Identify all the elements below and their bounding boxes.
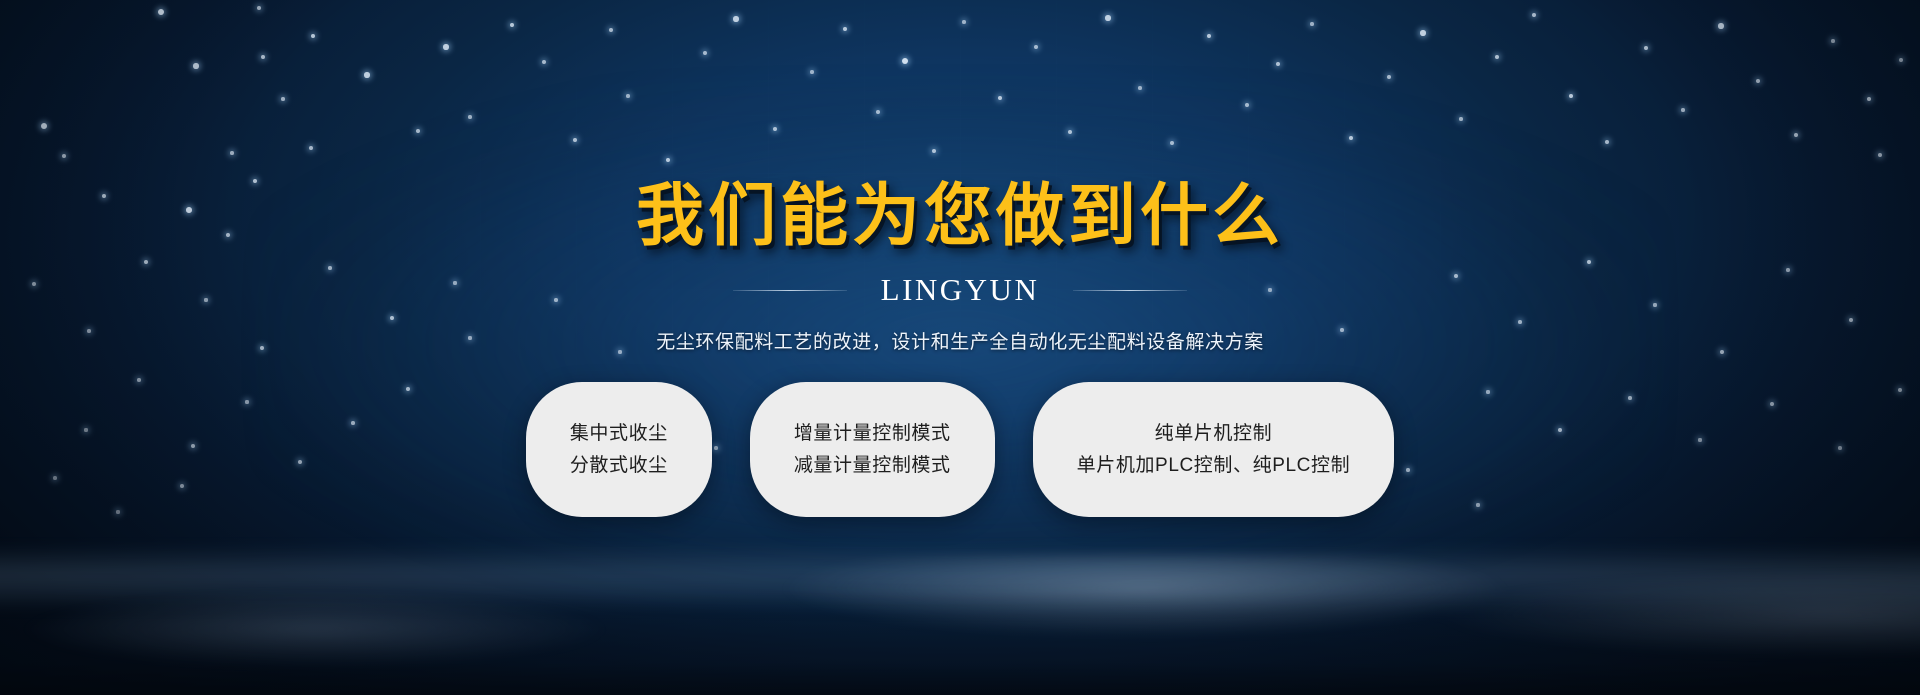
feature-card-metering-mode[interactable]: 增量计量控制模式 减量计量控制模式 <box>750 382 995 517</box>
divider-right <box>1073 290 1187 291</box>
card-line: 纯单片机控制 <box>1155 424 1273 443</box>
card-line: 增量计量控制模式 <box>794 424 951 443</box>
banner-headline: 我们能为您做到什么 <box>636 183 1284 251</box>
banner-content: 我们能为您做到什么 LINGYUN 无尘环保配料工艺的改进，设计和生产全自动化无… <box>0 0 1920 695</box>
brand-subline: LINGYUN <box>733 272 1188 308</box>
divider-left <box>733 290 847 291</box>
feature-card-list: 集中式收尘 分散式收尘 增量计量控制模式 减量计量控制模式 纯单片机控制 单片机… <box>526 382 1394 517</box>
card-line: 分散式收尘 <box>570 456 668 475</box>
banner-description: 无尘环保配料工艺的改进，设计和生产全自动化无尘配料设备解决方案 <box>656 327 1264 354</box>
brand-name: LINGYUN <box>881 272 1040 308</box>
card-line: 集中式收尘 <box>570 424 668 443</box>
card-line: 单片机加PLC控制、纯PLC控制 <box>1077 456 1351 475</box>
hero-banner: 我们能为您做到什么 LINGYUN 无尘环保配料工艺的改进，设计和生产全自动化无… <box>0 0 1920 695</box>
feature-card-dust-collection[interactable]: 集中式收尘 分散式收尘 <box>526 382 712 517</box>
feature-card-control-system[interactable]: 纯单片机控制 单片机加PLC控制、纯PLC控制 <box>1033 382 1395 517</box>
card-line: 减量计量控制模式 <box>794 456 951 475</box>
